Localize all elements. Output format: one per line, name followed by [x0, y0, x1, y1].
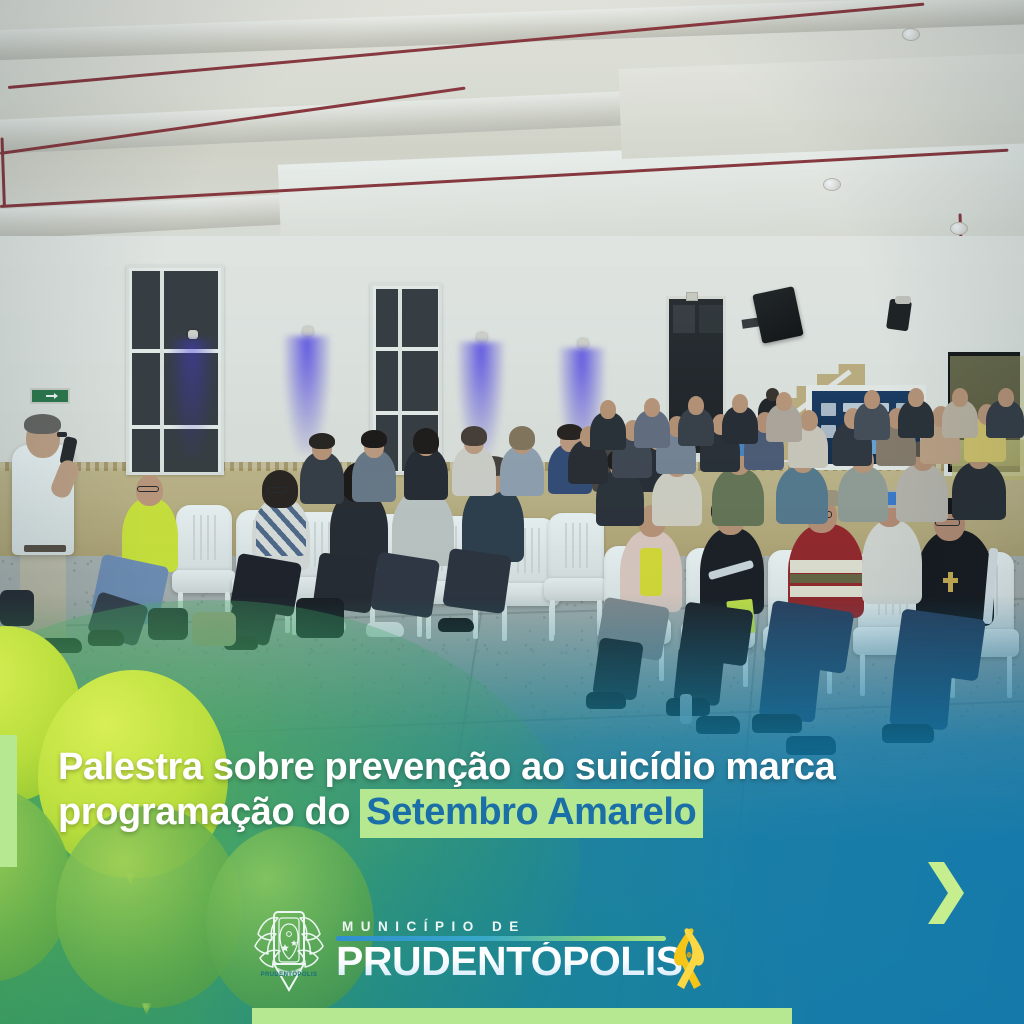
event-photo — [0, 0, 1024, 1024]
social-post-card: Palestra sobre prevenção ao suicídio mar… — [0, 0, 1024, 1024]
photo-vignette — [0, 0, 1024, 1024]
